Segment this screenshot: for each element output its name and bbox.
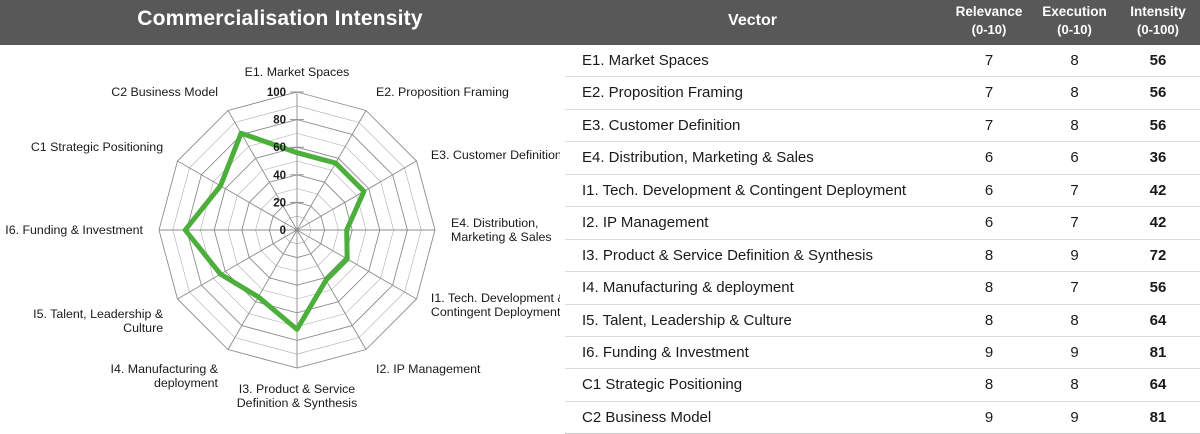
radar-axis-label: E2. Proposition Framing — [376, 85, 509, 99]
cell-relevance: 6 — [945, 142, 1033, 173]
cell-vector: E3. Customer Definition — [582, 110, 740, 141]
cell-vector: I4. Manufacturing & deployment — [582, 272, 794, 303]
table-row[interactable]: I1. Tech. Development & Contingent Deplo… — [565, 175, 1200, 207]
table-row[interactable]: I5. Talent, Leadership & Culture8864 — [565, 305, 1200, 337]
cell-relevance: 6 — [945, 175, 1033, 206]
radar-tick-label: 100 — [267, 87, 286, 99]
cell-vector: I2. IP Management — [582, 207, 708, 238]
column-header-execution-label: Execution — [1042, 4, 1107, 19]
header-bar: Commercialisation Intensity Vector Relev… — [0, 0, 1200, 45]
vector-table: E1. Market Spaces7856E2. Proposition Fra… — [565, 45, 1200, 434]
cell-intensity: 81 — [1118, 402, 1198, 433]
cell-vector: E4. Distribution, Marketing & Sales — [582, 142, 814, 173]
table-row[interactable]: E2. Proposition Framing7856 — [565, 77, 1200, 109]
column-header-relevance: Relevance (0-10) — [945, 3, 1033, 39]
cell-intensity: 72 — [1118, 240, 1198, 271]
table-row[interactable]: C1 Strategic Positioning8864 — [565, 369, 1200, 401]
cell-intensity: 56 — [1118, 45, 1198, 76]
cell-execution: 7 — [1032, 175, 1117, 206]
column-header-intensity-range: (0-100) — [1118, 21, 1198, 39]
cell-relevance: 8 — [945, 305, 1033, 336]
column-header-relevance-range: (0-10) — [945, 21, 1033, 39]
column-header-execution-range: (0-10) — [1032, 21, 1117, 39]
radar-chart: 020406080100E1. Market SpacesE2. Proposi… — [0, 45, 560, 424]
cell-intensity: 56 — [1118, 110, 1198, 141]
cell-relevance: 7 — [945, 77, 1033, 108]
table-row[interactable]: E3. Customer Definition7856 — [565, 110, 1200, 142]
cell-intensity: 42 — [1118, 175, 1198, 206]
column-header-relevance-label: Relevance — [956, 4, 1023, 19]
cell-vector: C1 Strategic Positioning — [582, 369, 742, 400]
radar-axis-label: I4. Manufacturing &deployment — [111, 362, 219, 390]
radar-tick-label: 60 — [273, 142, 286, 154]
cell-execution: 7 — [1032, 272, 1117, 303]
table-row[interactable]: E1. Market Spaces7856 — [565, 45, 1200, 77]
radar-tick-label: 0 — [280, 225, 286, 237]
radar-axis-label: C1 Strategic Positioning — [31, 140, 163, 154]
cell-vector: C2 Business Model — [582, 402, 711, 433]
table-row[interactable]: C2 Business Model9981 — [565, 402, 1200, 434]
cell-intensity: 64 — [1118, 369, 1198, 400]
cell-vector: I1. Tech. Development & Contingent Deplo… — [582, 175, 906, 206]
column-header-vector: Vector — [565, 12, 940, 30]
cell-intensity: 56 — [1118, 77, 1198, 108]
column-header-intensity: Intensity (0-100) — [1118, 3, 1198, 39]
radar-axis-label: I5. Talent, Leadership &Culture — [33, 307, 164, 335]
cell-vector: I5. Talent, Leadership & Culture — [582, 305, 792, 336]
radar-axis-label: E1. Market Spaces — [245, 65, 350, 79]
cell-execution: 8 — [1032, 110, 1117, 141]
cell-relevance: 7 — [945, 45, 1033, 76]
table-row[interactable]: I3. Product & Service Definition & Synth… — [565, 240, 1200, 272]
page-root: Commercialisation Intensity Vector Relev… — [0, 0, 1200, 424]
page-title: Commercialisation Intensity — [0, 7, 560, 31]
radar-chart-svg: 020406080100E1. Market SpacesE2. Proposi… — [0, 45, 560, 424]
radar-axis-label: I2. IP Management — [376, 362, 481, 376]
cell-relevance: 6 — [945, 207, 1033, 238]
radar-axis-label: I1. Tech. Development &Contingent Deploy… — [431, 291, 560, 319]
cell-relevance: 9 — [945, 337, 1033, 368]
radar-axis-label: I6. Funding & Investment — [5, 223, 143, 237]
cell-intensity: 42 — [1118, 207, 1198, 238]
column-header-execution: Execution (0-10) — [1032, 3, 1117, 39]
cell-relevance: 9 — [945, 402, 1033, 433]
cell-relevance: 8 — [945, 272, 1033, 303]
cell-execution: 8 — [1032, 45, 1117, 76]
radar-tick-label: 20 — [273, 197, 286, 209]
cell-execution: 9 — [1032, 402, 1117, 433]
table-row[interactable]: I6. Funding & Investment9981 — [565, 337, 1200, 369]
cell-intensity: 81 — [1118, 337, 1198, 368]
cell-vector: I6. Funding & Investment — [582, 337, 749, 368]
radar-tick-label: 80 — [273, 115, 286, 127]
cell-relevance: 7 — [945, 110, 1033, 141]
radar-axis-label: I3. Product & ServiceDefinition & Synthe… — [237, 382, 358, 410]
cell-execution: 9 — [1032, 240, 1117, 271]
cell-execution: 8 — [1032, 369, 1117, 400]
radar-axis-label: E4. Distribution,Marketing & Sales — [451, 216, 552, 244]
cell-execution: 9 — [1032, 337, 1117, 368]
radar-tick-label: 40 — [273, 170, 286, 182]
cell-vector: E1. Market Spaces — [582, 45, 709, 76]
cell-intensity: 56 — [1118, 272, 1198, 303]
radar-axis-label: C2 Business Model — [111, 85, 218, 99]
radar-axis-label: E3. Customer Definition — [431, 148, 560, 162]
cell-vector: E2. Proposition Framing — [582, 77, 743, 108]
cell-execution: 8 — [1032, 77, 1117, 108]
cell-intensity: 64 — [1118, 305, 1198, 336]
cell-execution: 6 — [1032, 142, 1117, 173]
cell-vector: I3. Product & Service Definition & Synth… — [582, 240, 873, 271]
table-row[interactable]: I2. IP Management6742 — [565, 207, 1200, 239]
cell-execution: 7 — [1032, 207, 1117, 238]
cell-execution: 8 — [1032, 305, 1117, 336]
cell-relevance: 8 — [945, 240, 1033, 271]
cell-intensity: 36 — [1118, 142, 1198, 173]
cell-relevance: 8 — [945, 369, 1033, 400]
table-row[interactable]: E4. Distribution, Marketing & Sales6636 — [565, 142, 1200, 174]
table-row[interactable]: I4. Manufacturing & deployment8756 — [565, 272, 1200, 304]
column-header-intensity-label: Intensity — [1130, 4, 1186, 19]
